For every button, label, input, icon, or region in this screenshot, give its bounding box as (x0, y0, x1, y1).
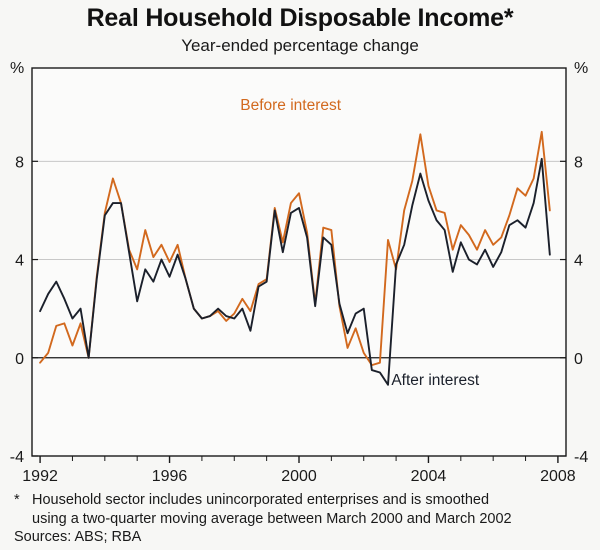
svg-text:4: 4 (15, 253, 24, 270)
series-label-before-interest: Before interest (240, 97, 341, 115)
sources-line: Sources: ABS; RBA (14, 529, 141, 545)
svg-text:4: 4 (574, 253, 583, 270)
series-label-after-interest: After interest (391, 372, 479, 390)
svg-text:1992: 1992 (22, 468, 58, 485)
svg-text:0: 0 (15, 351, 24, 368)
plot-background (32, 68, 566, 456)
svg-text:2000: 2000 (281, 468, 317, 485)
svg-text:1996: 1996 (152, 468, 188, 485)
svg-text:-4: -4 (574, 449, 588, 466)
footnote-line-1: Household sector includes unincorporated… (32, 492, 489, 508)
x-axis-tick-labels: 19921996200020042008 (22, 468, 576, 485)
footnote-marker: * (14, 491, 32, 510)
svg-text:2004: 2004 (411, 468, 447, 485)
svg-text:-4: -4 (10, 449, 24, 466)
chart-plot: 19921996200020042008 -4-4004488 (0, 0, 600, 550)
svg-text:8: 8 (574, 154, 583, 171)
footnote: * Household sector includes unincorporat… (14, 491, 594, 529)
svg-text:2008: 2008 (540, 468, 576, 485)
svg-text:0: 0 (574, 351, 583, 368)
svg-text:8: 8 (15, 154, 24, 171)
footnote-line-2: using a two-quarter moving average betwe… (32, 511, 512, 527)
x-axis-ticks (40, 456, 558, 463)
chart-page: Real Household Disposable Income* Year-e… (0, 0, 600, 550)
